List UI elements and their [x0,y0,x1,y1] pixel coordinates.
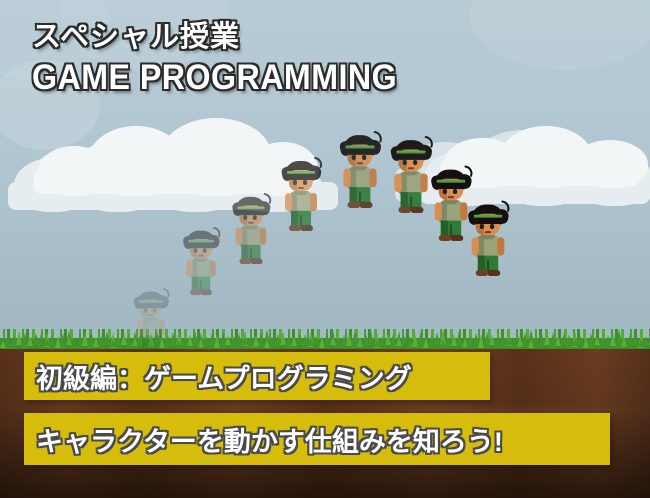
sky-blob [470,0,650,70]
character-sprite [180,230,222,296]
character-sprite [465,204,512,277]
subtitle-banner-label: キャラクターを動かす仕組みを知ろう! [36,420,503,459]
course-banner-label: 初級編：ゲームプログラミング [36,357,412,396]
character-sprite [336,134,384,209]
slide-canvas: スペシャル授業 GAME PROGRAMMING 初級編：ゲームプログラミング … [0,0,650,498]
character-sprite [229,196,273,265]
character-sprite [278,160,324,232]
page-title: GAME PROGRAMMING [32,58,397,98]
character-sprite [131,291,171,354]
course-banner[interactable]: 初級編：ゲームプログラミング [24,352,490,400]
kicker-text: スペシャル授業 [32,22,429,52]
subtitle-banner[interactable]: キャラクターを動かす仕組みを知ろう! [24,413,610,465]
heading-block: スペシャル授業 GAME PROGRAMMING [32,22,429,98]
